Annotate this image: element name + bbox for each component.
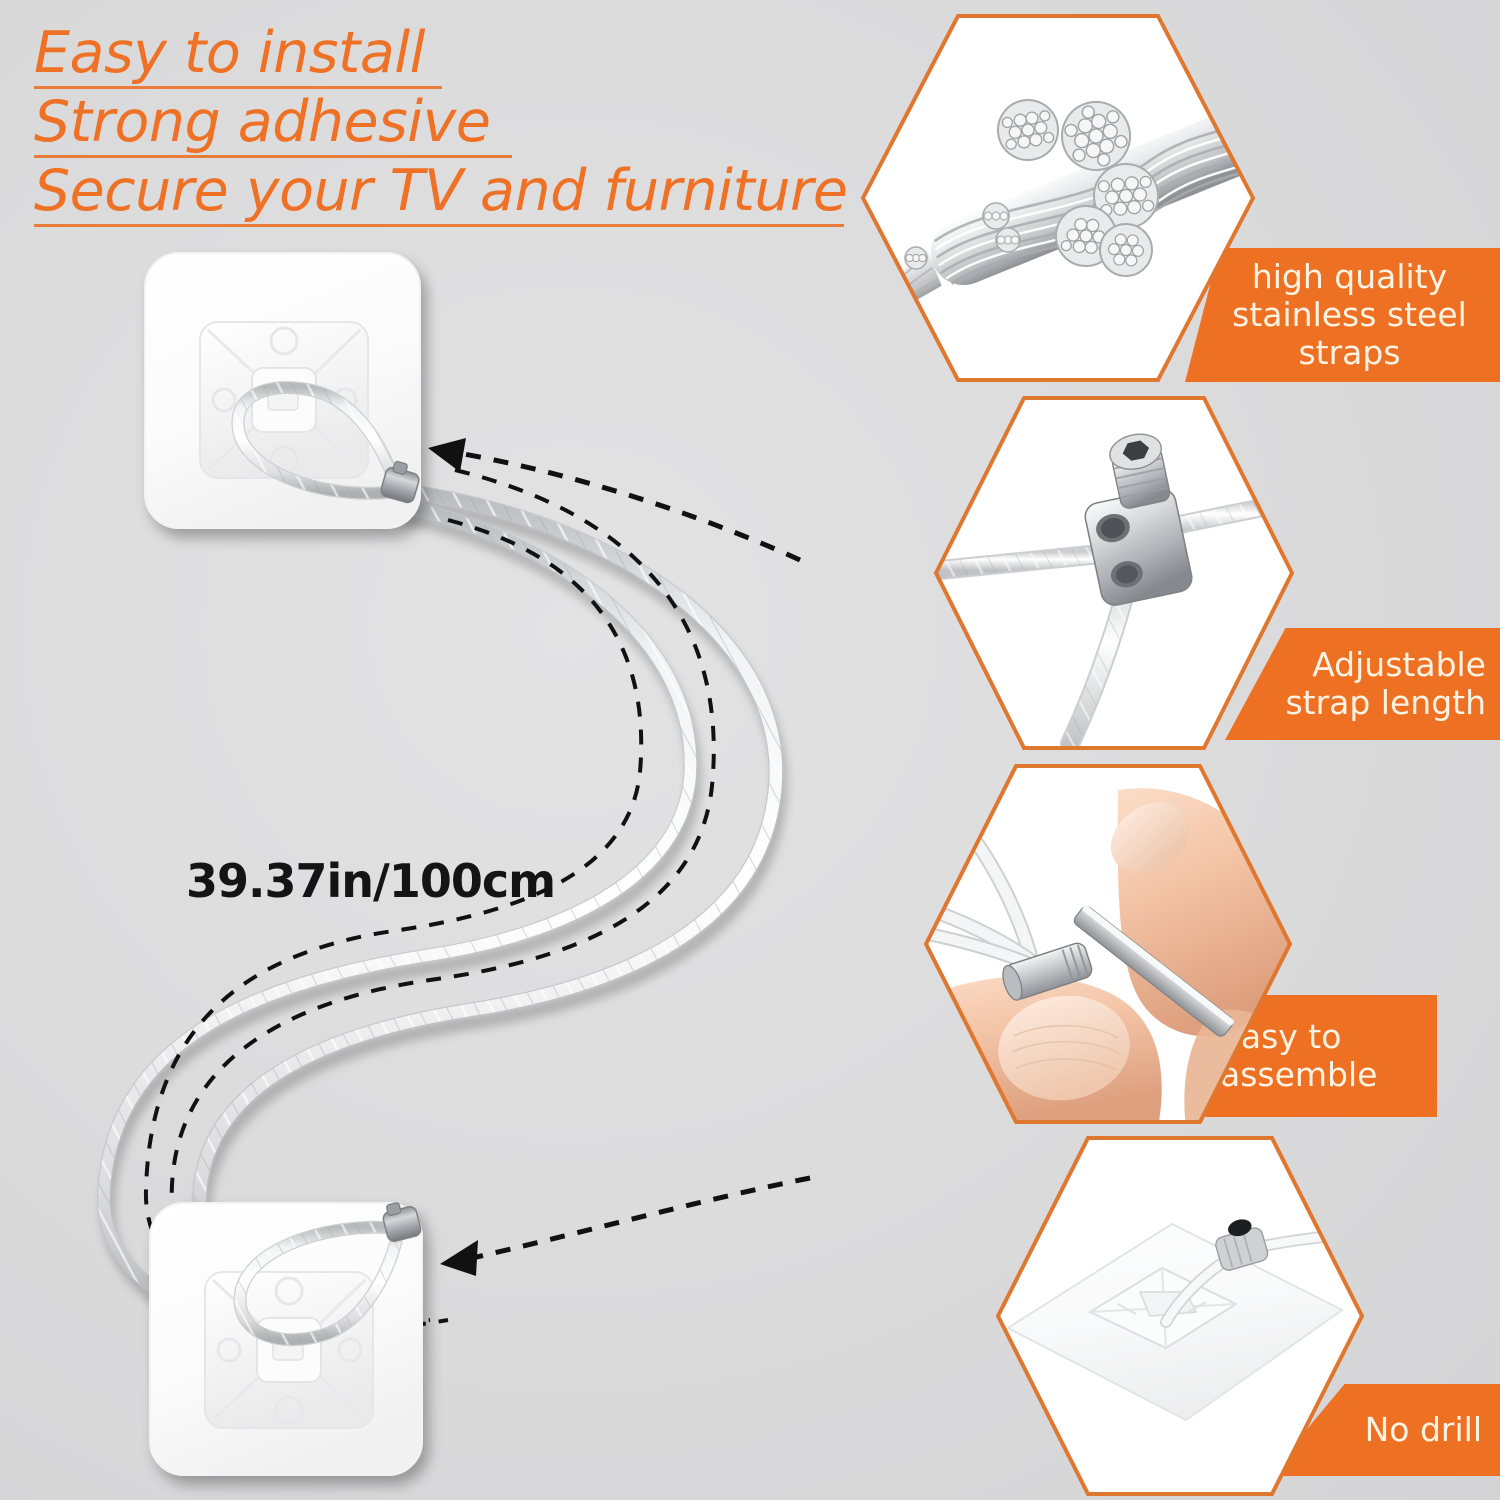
cable-length-label: 39.37in/100cm — [186, 854, 555, 908]
product-infographic: 39.37in/100cm Easy to install Strong adh… — [0, 0, 1500, 1500]
feature-2-hexagon — [930, 392, 1298, 754]
headline-line-2: Strong adhesive — [34, 91, 512, 158]
feature-4-hexagon — [990, 1132, 1370, 1500]
dashed-arrow-bottom — [440, 1178, 810, 1276]
mount-bracket-plate — [205, 1272, 373, 1428]
adhesive-wall-mount-top — [145, 253, 420, 528]
headline-block: Easy to install Strong adhesive Secure y… — [34, 22, 864, 229]
cable-ferrule-bottom — [382, 1202, 422, 1242]
headline-line-1: Easy to install — [34, 22, 442, 89]
adhesive-wall-mount-bottom — [150, 1202, 422, 1475]
headline-line-3: Secure your TV and furniture — [34, 160, 844, 227]
feature-1-hexagon — [858, 8, 1258, 388]
feature-3-hexagon — [918, 760, 1298, 1128]
